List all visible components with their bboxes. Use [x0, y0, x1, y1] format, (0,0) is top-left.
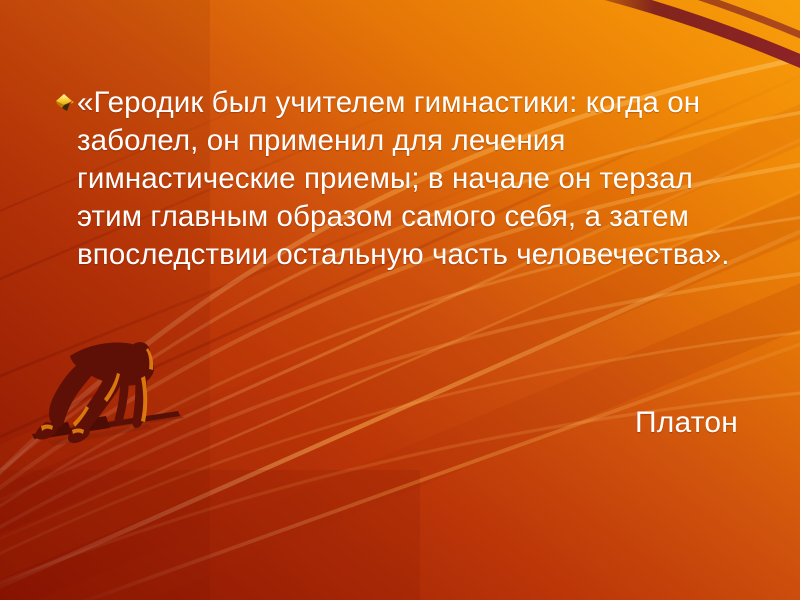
presentation-slide: «Геродик был учителем гимнастики: когда …: [0, 0, 800, 600]
quote-bullet-item: «Геродик был учителем гимнастики: когда …: [54, 84, 754, 274]
gold-diamond-bullet-icon: [54, 91, 74, 113]
quote-text: «Геродик был учителем гимнастики: когда …: [77, 84, 754, 274]
quote-author: Платон: [0, 404, 738, 442]
slide-content: «Геродик был учителем гимнастики: когда …: [0, 0, 800, 600]
